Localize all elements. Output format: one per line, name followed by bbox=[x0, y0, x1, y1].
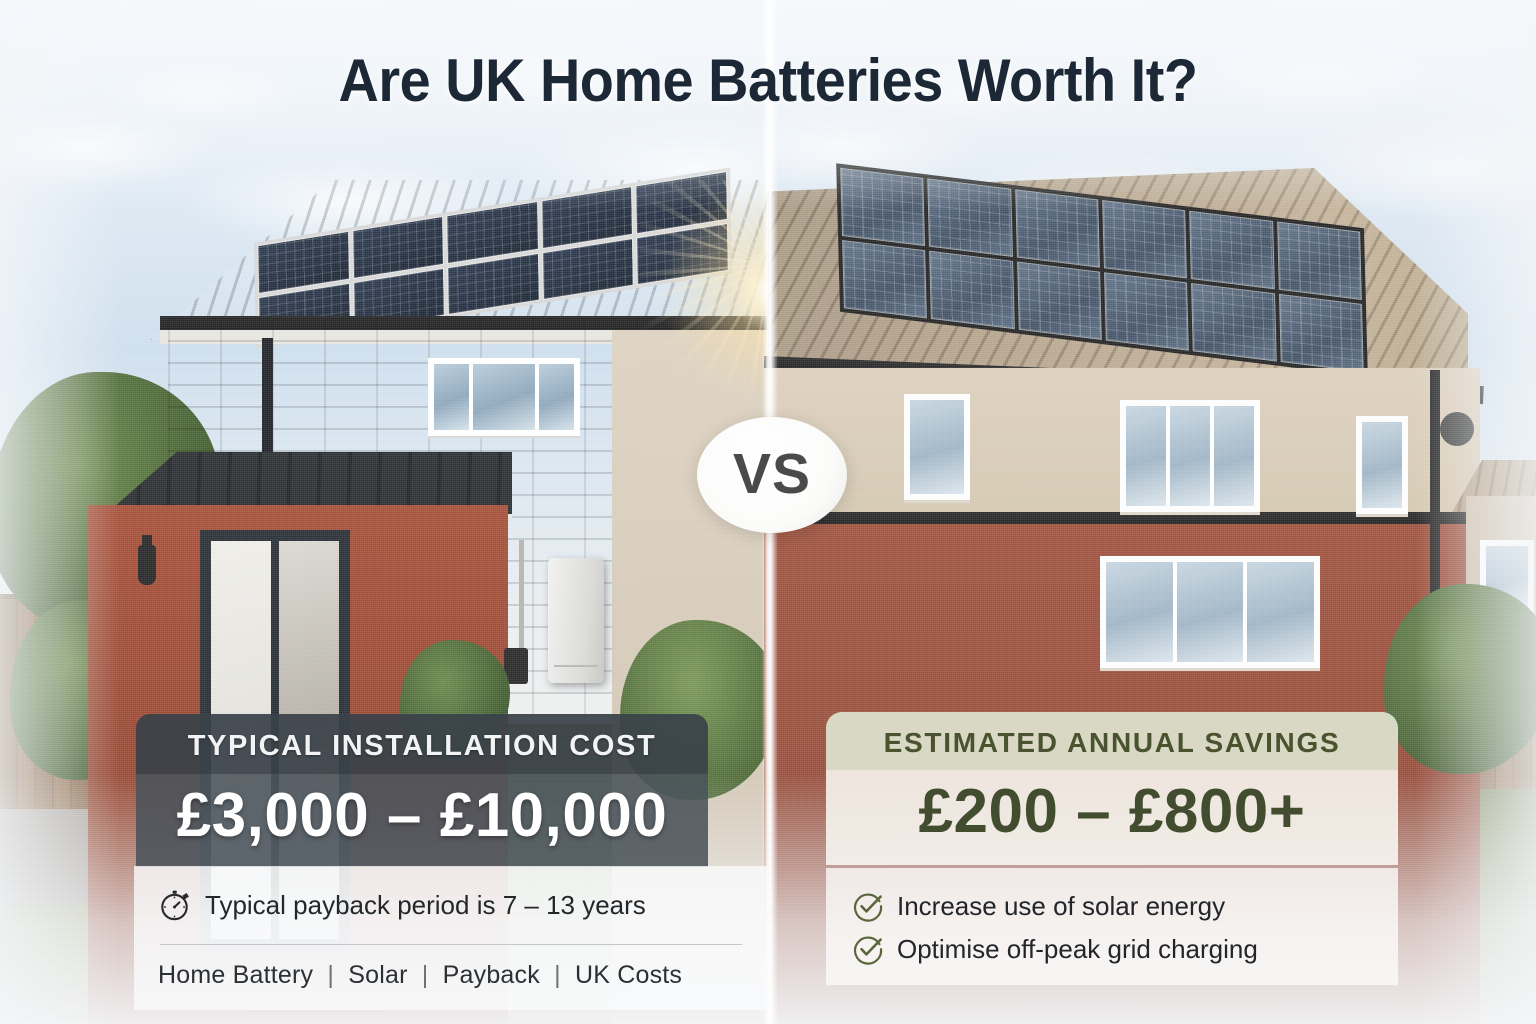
payback-note-row: Typical payback period is 7 – 13 years bbox=[158, 888, 744, 922]
window-pane bbox=[539, 364, 574, 430]
tag-separator: | bbox=[320, 961, 341, 989]
upper-window-right-1 bbox=[904, 394, 970, 500]
benefit-text: Increase use of solar energy bbox=[897, 890, 1225, 923]
vs-badge-label: VS bbox=[733, 441, 811, 507]
tag-uk-costs: UK Costs bbox=[575, 961, 682, 989]
solar-cell bbox=[1102, 200, 1187, 279]
benefit-text: Optimise off-peak grid charging bbox=[897, 933, 1258, 966]
vs-badge: VS bbox=[697, 417, 847, 533]
solar-cell bbox=[1277, 222, 1362, 301]
window-pane bbox=[473, 364, 536, 430]
page-title: Are UK Home Batteries Worth It? bbox=[54, 46, 1482, 115]
porch-lamp bbox=[138, 545, 156, 585]
circle-check-icon bbox=[852, 890, 884, 922]
tag-solar: Solar bbox=[348, 961, 407, 989]
battery-conduit bbox=[519, 540, 524, 650]
tag-separator: | bbox=[547, 961, 568, 989]
solar-cell bbox=[636, 222, 728, 285]
hedge-right bbox=[1384, 584, 1536, 774]
installation-cost-value: £3,000 – £10,000 bbox=[136, 774, 708, 867]
tag-list: Home Battery | Solar | Payback | UK Cost… bbox=[158, 961, 744, 990]
stopwatch-icon bbox=[158, 888, 192, 922]
annual-savings-value: £200 – £800+ bbox=[826, 770, 1398, 865]
window-pane bbox=[434, 364, 469, 430]
window-pane bbox=[910, 400, 964, 494]
solar-cell bbox=[1017, 261, 1102, 340]
window-pane bbox=[1247, 562, 1314, 662]
window-pane bbox=[1170, 406, 1210, 506]
installation-cost-card: TYPICAL INSTALLATION COST £3,000 – £10,0… bbox=[136, 714, 708, 867]
solar-cell bbox=[1189, 211, 1274, 290]
tag-payback: Payback bbox=[443, 961, 540, 989]
solar-cell bbox=[447, 252, 539, 315]
upper-window-right-2 bbox=[1120, 400, 1260, 512]
solar-cell bbox=[1279, 294, 1364, 373]
window-pane bbox=[1106, 562, 1173, 662]
lower-window-right bbox=[1100, 556, 1320, 668]
solar-cell bbox=[929, 251, 1014, 330]
annual-savings-card: ESTIMATED ANNUAL SAVINGS £200 – £800+ In… bbox=[826, 712, 1398, 865]
installation-cost-header: TYPICAL INSTALLATION COST bbox=[136, 714, 708, 774]
circle-check-icon bbox=[852, 933, 884, 965]
solar-cell bbox=[928, 178, 1013, 257]
annual-savings-footer: Increase use of solar energy Optimise of… bbox=[826, 868, 1398, 985]
benefit-row: Increase use of solar energy bbox=[852, 890, 1372, 923]
solar-cell bbox=[1015, 189, 1100, 268]
upper-window-right-3 bbox=[1356, 416, 1408, 514]
window-pane bbox=[1177, 562, 1244, 662]
benefit-row: Optimise off-peak grid charging bbox=[852, 933, 1372, 966]
upper-window-left bbox=[428, 358, 580, 436]
installation-cost-footer: Typical payback period is 7 – 13 years H… bbox=[134, 866, 768, 1010]
satellite-dish bbox=[1440, 412, 1474, 446]
payback-note-text: Typical payback period is 7 – 13 years bbox=[205, 889, 646, 922]
solar-cell bbox=[1104, 272, 1189, 351]
solar-cell bbox=[840, 168, 925, 247]
infographic-canvas: Are UK Home Batteries Worth It? VS TYPIC… bbox=[0, 0, 1536, 1024]
window-pane bbox=[1362, 422, 1402, 508]
window-pane bbox=[1126, 406, 1166, 506]
annual-savings-header: ESTIMATED ANNUAL SAVINGS bbox=[826, 712, 1398, 770]
solar-cell bbox=[1191, 283, 1276, 362]
home-battery-unit bbox=[548, 558, 604, 683]
card-divider-rule bbox=[160, 944, 742, 945]
window-pane bbox=[1214, 406, 1254, 506]
solar-cell bbox=[842, 240, 927, 319]
tag-separator: | bbox=[415, 961, 436, 989]
solar-cell bbox=[542, 237, 634, 300]
tag-home-battery: Home Battery bbox=[158, 961, 313, 989]
